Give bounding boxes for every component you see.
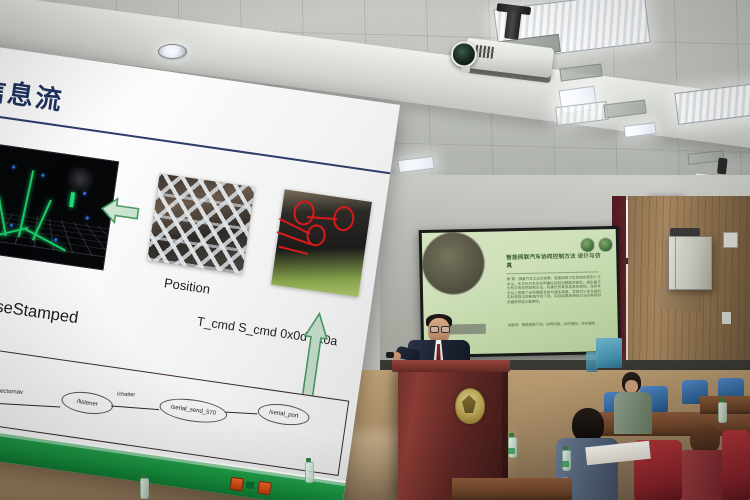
slide2-abstract: 摘 要：随着汽车工业的发展，智能网联汽车的研究受到广泛关注。本文针对多车协同编队… [507, 275, 602, 305]
ros-node: /serial_send_570 [158, 395, 228, 426]
projector-vent [475, 45, 494, 59]
cabinet-top-device [670, 228, 700, 236]
bottle-cap [719, 398, 724, 402]
bottle-cap [306, 458, 311, 462]
stool [596, 338, 622, 368]
truss-frame-photo [147, 173, 255, 274]
side-projector-mount [717, 158, 728, 175]
bottle-cap [509, 433, 514, 437]
slide-title: 信息流 [0, 69, 66, 118]
ros-node: /serial_port [256, 401, 310, 428]
bottle-cap [141, 474, 146, 478]
position-label: Position [163, 275, 211, 296]
presentation-clicker [386, 352, 394, 358]
audience-person [612, 372, 654, 432]
ros-edge [0, 399, 60, 408]
eyeglasses-left-icon [430, 326, 439, 333]
water-bottle [140, 478, 149, 499]
speaker-grille-icon [246, 481, 255, 489]
projector-foot [461, 65, 471, 73]
bottle-cap [563, 446, 568, 450]
ros-edge-label: /chatter [117, 391, 136, 398]
ros-edge [111, 406, 159, 411]
wall-cabinet [668, 236, 712, 290]
university-crest-right-icon [598, 237, 613, 252]
secondary-projection-screen: 智能网联汽车协同控制方法 设计与仿真 摘 要：随着汽车工业的发展，智能网联汽车的… [419, 226, 622, 358]
ceiling-downlight [158, 44, 187, 59]
slide2-photo-blob [422, 232, 485, 295]
ros-edge [225, 412, 257, 415]
stool-leg [586, 352, 598, 372]
robot-vehicle-photo [271, 189, 372, 297]
water-bottle [718, 402, 727, 423]
water-bottle [305, 462, 314, 483]
secondary-slide: 智能网联汽车协同控制方法 设计与仿真 摘 要：随着汽车工业的发展，智能网联汽车的… [422, 229, 619, 355]
cabinet-divider [675, 237, 676, 289]
bottle-label [562, 461, 569, 467]
wall-switch [722, 312, 731, 324]
menu-button[interactable] [257, 481, 272, 496]
slide2-title: 智能网联汽车协同控制方法 设计与仿真 [506, 253, 602, 270]
arrow-left-icon [98, 193, 142, 228]
projector-mount-pole [504, 10, 521, 39]
front-table [452, 478, 572, 500]
eyeglasses-right-icon [441, 326, 450, 333]
slide2-keywords: 关键词：智能网联汽车；协同控制；动作捕捉；实时通信 [508, 321, 596, 327]
ros-edge-label: /vrpn_client_node/vectornav [0, 386, 23, 396]
power-button[interactable] [229, 477, 244, 492]
lectern-top [392, 360, 510, 372]
geometry-msgs-label: Geometry_msgs::PoseStamped [0, 276, 79, 328]
plot-glare [62, 165, 99, 194]
presentation-room-photo: 智能网联汽车协同控制方法 设计与仿真 摘 要：随着汽车工业的发展，智能网联汽车的… [0, 0, 750, 500]
ros-node: /listener [60, 389, 114, 417]
wall-plate [723, 232, 738, 248]
university-crest-left-icon [580, 237, 595, 252]
audience-chair-red [722, 430, 750, 500]
slide2-rule [507, 271, 599, 274]
bottle-label [508, 448, 515, 454]
